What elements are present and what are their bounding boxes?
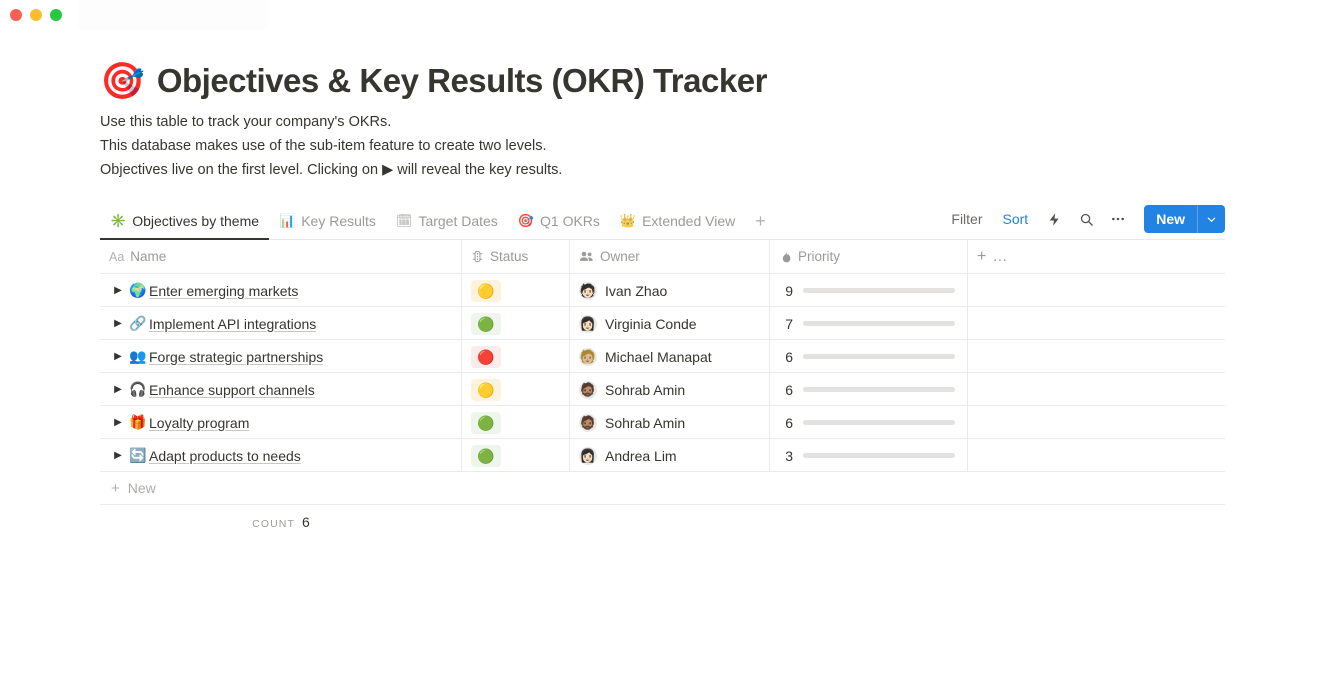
row-icon: 🔗: [127, 315, 149, 332]
cell-spacer: [968, 373, 1225, 406]
new-button-label: New: [1144, 205, 1197, 233]
row-title[interactable]: Adapt products to needs: [149, 448, 301, 464]
status-badge: 🔴: [471, 346, 501, 368]
page-title[interactable]: Objectives & Key Results (OKR) Tracker: [157, 62, 767, 100]
table-body: ▶ 🌍 Enter emerging markets 🟡 🧑🏻 Ivan Zha…: [100, 274, 1225, 472]
minimize-button[interactable]: [30, 9, 42, 21]
plus-icon: +: [111, 480, 120, 497]
expand-toggle-icon[interactable]: ▶: [109, 417, 127, 428]
cell-name[interactable]: ▶ 🎁 Loyalty program: [100, 406, 462, 439]
status-badge: 🟢: [471, 313, 501, 335]
expand-toggle-icon[interactable]: ▶: [109, 450, 127, 461]
owner-name: Ivan Zhao: [605, 283, 667, 299]
cell-owner[interactable]: 🧑🏼 Michael Manapat: [570, 340, 770, 373]
cell-owner[interactable]: 🧑🏻 Ivan Zhao: [570, 274, 770, 307]
owner-name: Andrea Lim: [605, 448, 677, 464]
cell-priority[interactable]: 3: [770, 439, 968, 472]
table-row[interactable]: ▶ 🌍 Enter emerging markets 🟡 🧑🏻 Ivan Zha…: [100, 274, 1225, 307]
expand-toggle-icon[interactable]: ▶: [109, 285, 127, 296]
cell-status[interactable]: 🟢: [462, 439, 570, 472]
column-header-status[interactable]: Status: [462, 240, 570, 273]
close-button[interactable]: [10, 9, 22, 21]
count-label: Count: [252, 518, 295, 530]
search-icon[interactable]: [1072, 206, 1100, 232]
chevron-down-icon[interactable]: [1198, 205, 1225, 233]
target-icon: 🎯: [518, 213, 534, 229]
target-icon: 🎯: [100, 63, 145, 99]
owner-name: Sohrab Amin: [605, 382, 685, 398]
cell-spacer: [968, 406, 1225, 439]
cell-status[interactable]: 🔴: [462, 340, 570, 373]
cell-spacer: [968, 439, 1225, 472]
view-toolbar: ✳️ Objectives by theme 📊 Key Results 🗓 T…: [100, 204, 1225, 240]
ellipsis-icon[interactable]: [1104, 206, 1132, 232]
browser-tab-ghost[interactable]: [78, 0, 268, 30]
row-icon: 🎧: [127, 381, 149, 398]
status-badge: 🟡: [471, 280, 501, 302]
tab-label: Q1 OKRs: [540, 213, 600, 229]
add-view-button[interactable]: +: [745, 203, 776, 239]
row-title[interactable]: Forge strategic partnerships: [149, 349, 323, 365]
asterisk-icon: ✳️: [110, 213, 126, 229]
column-label: Owner: [600, 249, 640, 264]
tab-label: Key Results: [301, 213, 376, 229]
row-title[interactable]: Loyalty program: [149, 415, 249, 431]
table-row[interactable]: ▶ 🔄 Adapt products to needs 🟢 👩🏻 Andrea …: [100, 439, 1225, 472]
tab-extended-view[interactable]: 👑 Extended View: [610, 204, 745, 240]
priority-bar: [803, 453, 955, 458]
calendar-icon: 🗓: [396, 213, 413, 229]
column-label: Name: [130, 249, 166, 264]
tab-objectives-by-theme[interactable]: ✳️ Objectives by theme: [100, 204, 269, 240]
status-badge: 🟢: [471, 445, 501, 467]
cell-status[interactable]: 🟢: [462, 406, 570, 439]
status-badge: 🟡: [471, 379, 501, 401]
cell-name[interactable]: ▶ 🔗 Implement API integrations: [100, 307, 462, 340]
new-button[interactable]: New: [1144, 205, 1225, 233]
priority-value: 6: [779, 382, 793, 398]
avatar: 👩🏻: [579, 447, 597, 465]
table-header-row: Aa Name Status: [100, 240, 1225, 274]
page-title-row: 🎯 Objectives & Key Results (OKR) Tracker: [100, 62, 1317, 100]
table-row[interactable]: ▶ 🔗 Implement API integrations 🟢 👩🏻 Virg…: [100, 307, 1225, 340]
table-row[interactable]: ▶ 🎁 Loyalty program 🟢 🧔🏽 Sohrab Amin 6: [100, 406, 1225, 439]
cell-name[interactable]: ▶ 🎧 Enhance support channels: [100, 373, 462, 406]
column-options-icon[interactable]: …: [992, 248, 1007, 265]
cell-spacer: [968, 340, 1225, 373]
description-line-3: Objectives live on the first level. Clic…: [100, 158, 1317, 182]
row-title[interactable]: Enhance support channels: [149, 382, 315, 398]
expand-toggle-icon[interactable]: ▶: [109, 351, 127, 362]
cell-name[interactable]: ▶ 👥 Forge strategic partnerships: [100, 340, 462, 373]
cell-owner[interactable]: 🧔🏽 Sohrab Amin: [570, 373, 770, 406]
window-titlebar: [0, 0, 1317, 30]
zoom-button[interactable]: [50, 9, 62, 21]
row-icon: 👥: [127, 348, 149, 365]
cell-spacer: [968, 274, 1225, 307]
column-header-owner[interactable]: Owner: [570, 240, 770, 273]
priority-value: 6: [779, 415, 793, 431]
description-line-2: This database makes use of the sub-item …: [100, 134, 1317, 158]
row-icon: 🔄: [127, 447, 149, 464]
cell-owner[interactable]: 👩🏻 Andrea Lim: [570, 439, 770, 472]
page-description: Use this table to track your company's O…: [100, 110, 1317, 182]
expand-toggle-icon[interactable]: ▶: [109, 318, 127, 329]
text-type-icon: Aa: [109, 250, 124, 264]
column-label: Priority: [798, 249, 840, 264]
new-row-button[interactable]: + New: [100, 472, 1225, 505]
avatar: 🧑🏻: [579, 282, 597, 300]
flame-icon: [779, 250, 792, 264]
priority-value: 6: [779, 349, 793, 365]
add-column-button[interactable]: +: [977, 248, 986, 266]
owner-name: Michael Manapat: [605, 349, 712, 365]
count-value: 6: [302, 514, 310, 530]
page-content: 🎯 Objectives & Key Results (OKR) Tracker…: [0, 62, 1317, 539]
row-icon: 🎁: [127, 414, 149, 431]
avatar: 🧑🏼: [579, 348, 597, 366]
avatar: 🧔🏽: [579, 381, 597, 399]
traffic-light-icon: [471, 250, 484, 263]
priority-bar: [803, 387, 955, 392]
view-tabs: ✳️ Objectives by theme 📊 Key Results 🗓 T…: [100, 203, 776, 239]
tab-label: Target Dates: [418, 213, 497, 229]
description-line-1: Use this table to track your company's O…: [100, 110, 1317, 134]
priority-value: 9: [779, 283, 793, 299]
priority-value: 7: [779, 316, 793, 332]
cell-owner[interactable]: 🧔🏽 Sohrab Amin: [570, 406, 770, 439]
avatar: 👩🏻: [579, 315, 597, 333]
filter-button[interactable]: Filter: [943, 207, 990, 231]
sort-button[interactable]: Sort: [995, 207, 1037, 231]
owner-name: Sohrab Amin: [605, 415, 685, 431]
column-label: Status: [490, 249, 528, 264]
priority-bar: [803, 420, 955, 425]
crown-icon: 👑: [620, 213, 636, 229]
column-header-actions: + …: [968, 240, 1225, 273]
lightning-icon[interactable]: [1040, 206, 1068, 232]
tab-label: Objectives by theme: [132, 213, 259, 229]
priority-bar: [803, 354, 955, 359]
priority-bar: [803, 321, 955, 326]
cell-priority[interactable]: 6: [770, 340, 968, 373]
row-title[interactable]: Enter emerging markets: [149, 283, 298, 299]
bar-chart-icon: 📊: [279, 213, 295, 229]
table-footer: Count 6: [100, 505, 1225, 539]
tab-key-results[interactable]: 📊 Key Results: [269, 204, 386, 240]
status-badge: 🟢: [471, 412, 501, 434]
priority-value: 3: [779, 448, 793, 464]
people-icon: [579, 250, 594, 263]
okr-table: Aa Name Status: [100, 240, 1225, 539]
owner-name: Virginia Conde: [605, 316, 697, 332]
table-row[interactable]: ▶ 🎧 Enhance support channels 🟡 🧔🏽 Sohrab…: [100, 373, 1225, 406]
cell-owner[interactable]: 👩🏻 Virginia Conde: [570, 307, 770, 340]
window-controls: [10, 9, 62, 21]
priority-bar: [803, 288, 955, 293]
avatar: 🧔🏽: [579, 414, 597, 432]
table-row[interactable]: ▶ 👥 Forge strategic partnerships 🔴 🧑🏼 Mi…: [100, 340, 1225, 373]
cell-priority[interactable]: 9: [770, 274, 968, 307]
tab-q1-okrs[interactable]: 🎯 Q1 OKRs: [508, 204, 610, 240]
cell-name[interactable]: ▶ 🔄 Adapt products to needs: [100, 439, 462, 472]
tab-label: Extended View: [642, 213, 735, 229]
cell-name[interactable]: ▶ 🌍 Enter emerging markets: [100, 274, 462, 307]
expand-toggle-icon[interactable]: ▶: [109, 384, 127, 395]
row-icon: 🌍: [127, 282, 149, 299]
cell-priority[interactable]: 6: [770, 373, 968, 406]
new-row-label: New: [128, 480, 156, 496]
column-header-priority[interactable]: Priority: [770, 240, 968, 273]
view-action-buttons: Filter Sort New: [943, 203, 1225, 239]
cell-status[interactable]: 🟡: [462, 274, 570, 307]
count-summary[interactable]: Count 6: [100, 514, 462, 530]
tab-target-dates[interactable]: 🗓 Target Dates: [386, 204, 508, 240]
cell-status[interactable]: 🟡: [462, 373, 570, 406]
cell-spacer: [968, 307, 1225, 340]
column-header-name[interactable]: Aa Name: [100, 240, 462, 273]
cell-status[interactable]: 🟢: [462, 307, 570, 340]
cell-priority[interactable]: 7: [770, 307, 968, 340]
row-title[interactable]: Implement API integrations: [149, 316, 316, 332]
cell-priority[interactable]: 6: [770, 406, 968, 439]
